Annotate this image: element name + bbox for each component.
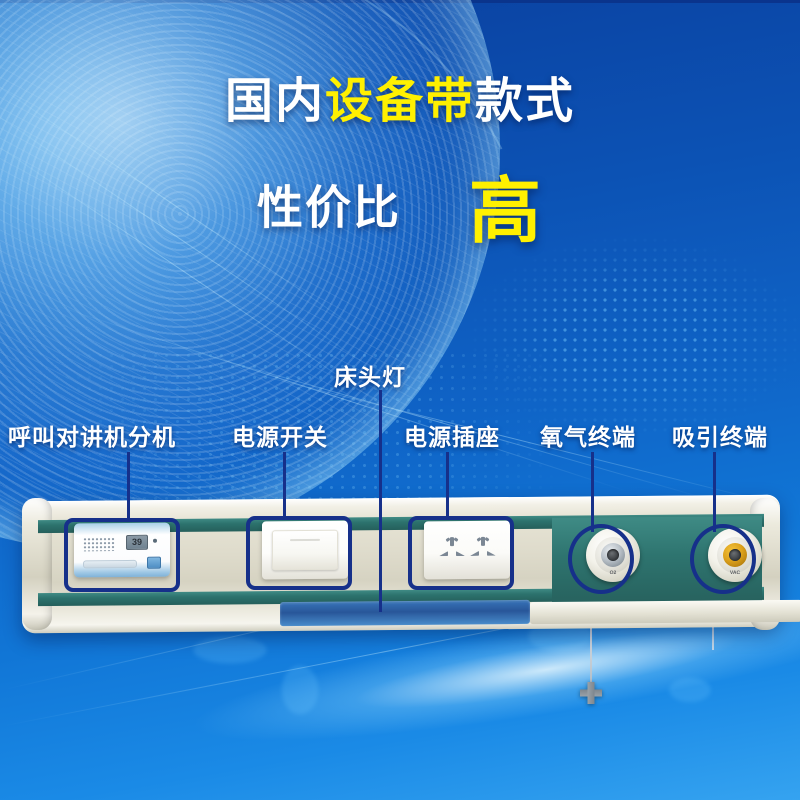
callout-layer: 呼叫对讲机分机 电源开关 床头灯 电源插座 氧气终端 吸引终端: [0, 0, 800, 800]
callout-label-power-socket: 电源插座: [404, 418, 500, 452]
callout-label-suction: 吸引终端: [672, 418, 768, 452]
leader-line-oxygen: [591, 452, 594, 532]
leader-line-power-socket: [446, 452, 449, 518]
leader-line-bed-lamp: [379, 390, 382, 612]
callout-label-bed-lamp: 床头灯: [334, 358, 406, 392]
leader-line-intercom: [127, 452, 130, 522]
callout-label-intercom: 呼叫对讲机分机: [8, 418, 176, 452]
callout-label-oxygen: 氧气终端: [540, 418, 636, 452]
callout-label-power-switch: 电源开关: [232, 418, 328, 452]
leader-line-suction: [713, 452, 716, 532]
leader-line-power-switch: [283, 452, 286, 518]
poster-canvas: 国内设备带款式 性价比高 呼叫对讲机分机 电源开关 床头灯 电源插座 氧气终端 …: [0, 0, 800, 800]
